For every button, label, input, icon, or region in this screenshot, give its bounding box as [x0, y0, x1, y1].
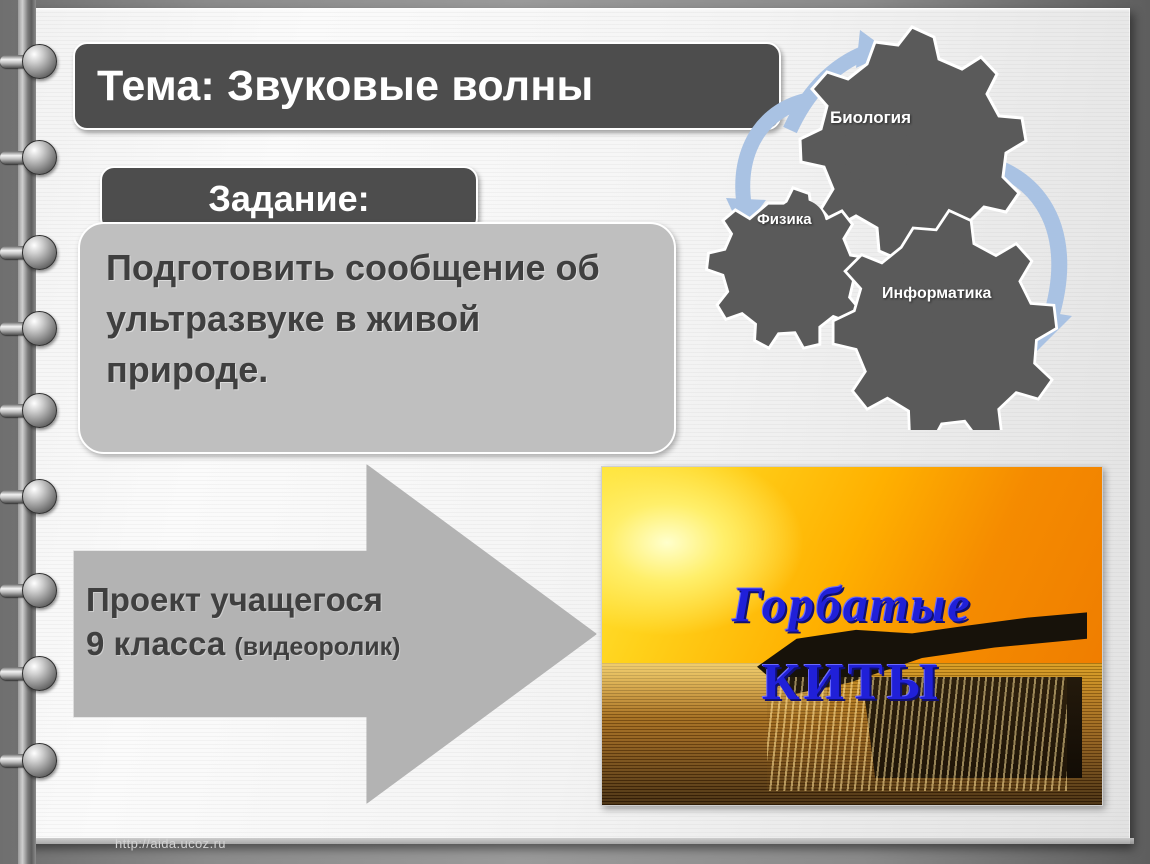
gear-label-physics: Физика: [757, 211, 812, 228]
gear-informatics: [833, 211, 1057, 430]
spiral-ring: [0, 393, 52, 427]
paper-top-edge: [22, 8, 1130, 11]
video-title-line-2: КИТЫ: [602, 653, 1102, 712]
gear-label-biology: Биология: [830, 108, 911, 128]
notebook-spine: [18, 0, 36, 864]
spiral-ring: [0, 140, 52, 174]
project-line-1: Проект учащегося: [86, 578, 506, 622]
video-title-line-1: Горбатые: [602, 575, 1102, 633]
spiral-ring: [0, 44, 52, 78]
task-label-text: Задание:: [208, 178, 369, 220]
subjects-gear-diagram: Биология Физика Информатика: [690, 20, 1120, 430]
project-line-2: 9 класса (видеоролик): [86, 622, 506, 666]
project-note: (видеоролик): [234, 633, 400, 661]
video-thumbnail[interactable]: Горбатые КИТЫ: [601, 466, 1103, 806]
spiral-ring: [0, 743, 52, 777]
project-grade: 9 класса: [86, 625, 234, 662]
task-bubble: Подготовить сообщение об ультразвуке в ж…: [78, 222, 676, 454]
task-bubble-text: Подготовить сообщение об ультразвуке в ж…: [106, 242, 648, 395]
gear-label-informatics: Информатика: [882, 285, 991, 303]
project-arrow-text: Проект учащегося 9 класса (видеоролик): [86, 578, 506, 665]
spiral-ring: [0, 311, 52, 345]
topic-title-box: Тема: Звуковые волны: [73, 42, 781, 130]
spiral-ring: [0, 573, 52, 607]
spiral-ring: [0, 479, 52, 513]
gears-svg: [690, 20, 1120, 430]
topic-title-text: Тема: Звуковые волны: [97, 62, 593, 111]
watermark-url: http://aida.ucoz.ru: [115, 836, 226, 851]
spiral-ring: [0, 656, 52, 690]
spiral-ring: [0, 235, 52, 269]
slide-canvas: Тема: Звуковые волны Задание: Подготовит…: [0, 0, 1150, 864]
